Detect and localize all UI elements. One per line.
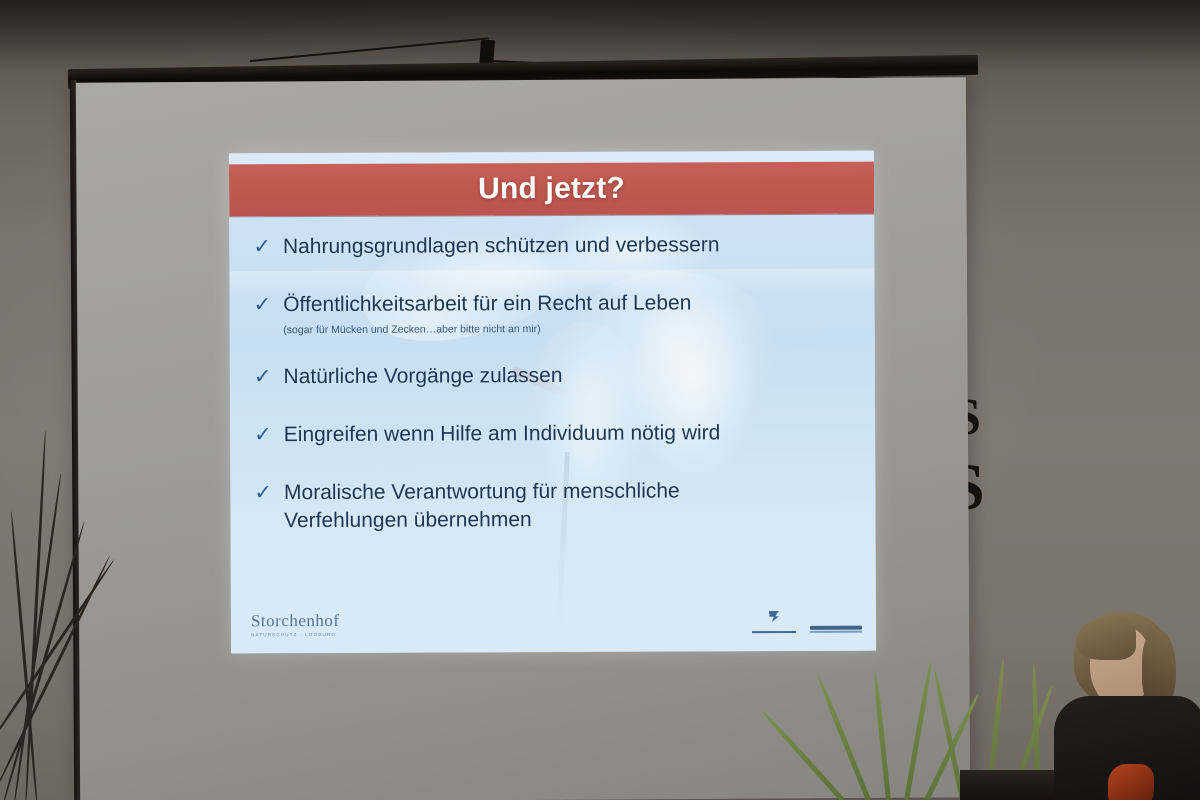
partner-mark-icon [752, 611, 796, 633]
bullet-text: Natürliche Vorgänge zulassen [283, 364, 562, 388]
storchenhof-logo-subtext: NATURSCHUTZ · LOOBURG [251, 632, 340, 637]
partner-mark-rule [752, 631, 796, 633]
screen-wire-left [250, 37, 489, 62]
bullet-item: ✓ Nahrungsgrundlagen schützen und verbes… [253, 231, 853, 262]
bullet-text: Öffentlichkeitsarbeit für ein Recht auf … [283, 291, 691, 316]
partner-mark-glyph [769, 611, 779, 622]
storchenhof-logo-text: Storchenhof [251, 611, 340, 630]
presentation-slide: Und jetzt? ✓ Nahrungsgrundlagen schützen… [229, 151, 876, 654]
slide-footer: Storchenhof NATURSCHUTZ · LOOBURG [231, 597, 876, 654]
checkmark-icon: ✓ [254, 480, 272, 506]
room-scene: S S Und jetzt? [0, 0, 1200, 800]
storchenhof-logo: Storchenhof NATURSCHUTZ · LOOBURG [251, 611, 340, 637]
person-scarf [1108, 764, 1154, 800]
bullet-text: Moralische Verantwortung für menschliche… [284, 479, 680, 532]
grass-blade [873, 672, 891, 800]
grass-blade [12, 473, 62, 800]
checkmark-icon: ✓ [254, 422, 272, 448]
person-hair-front [1076, 616, 1136, 660]
checkmark-icon: ✓ [254, 292, 272, 318]
grass-blade [24, 430, 47, 800]
sponsor-bar-top [810, 626, 862, 630]
grass-blade [904, 662, 933, 800]
sponsor-bar-icon [810, 611, 862, 633]
bullet-item: ✓ Eingreifen wenn Hilfe am Individuum nö… [254, 419, 854, 450]
presenter-person [1050, 612, 1200, 800]
slide-title: Und jetzt? [229, 162, 874, 217]
bullet-text: Nahrungsgrundlagen schützen und verbesse… [283, 233, 720, 258]
plant-left-silhouette [0, 380, 110, 800]
bullet-item: ✓ Öffentlichkeitsarbeit für ein Recht au… [254, 289, 854, 338]
bullet-item: ✓ Natürliche Vorgänge zulassen [254, 361, 854, 392]
checkmark-icon: ✓ [254, 364, 272, 390]
slide-bullet-list: ✓ Nahrungsgrundlagen schützen und verbes… [253, 231, 854, 566]
bullet-text: Eingreifen wenn Hilfe am Individuum nöti… [284, 421, 721, 446]
checkmark-icon: ✓ [253, 234, 271, 260]
bullet-subtext: (sogar für Mücken und Zecken…aber bitte … [283, 321, 691, 337]
bullet-item: ✓ Moralische Verantwortung für menschlic… [254, 477, 854, 536]
sponsor-bar-bottom [810, 631, 862, 633]
